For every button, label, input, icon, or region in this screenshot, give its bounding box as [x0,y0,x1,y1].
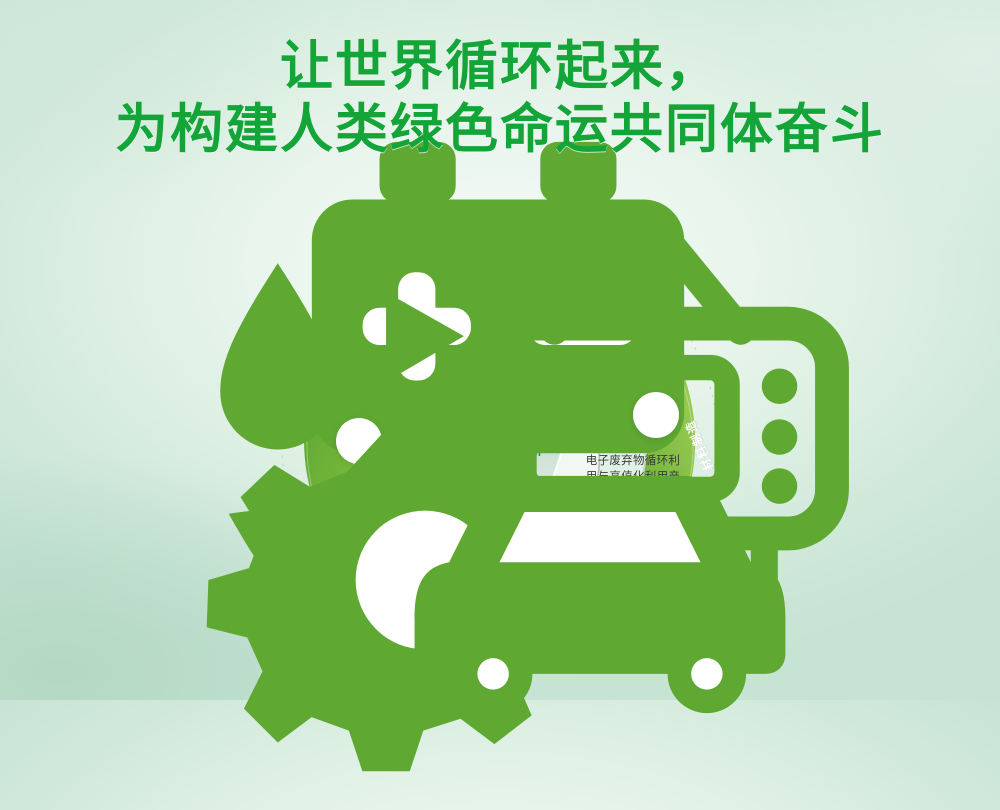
circular-economy-diagram: 再利用 废品回收 材料制造 新能源产品 零部件制造 废旧电池回收与动力电池材料制… [280,215,720,675]
page-title-line-2: 为构建人类绿色命运共同体奋斗 [0,98,1000,162]
car-icon [577,555,623,601]
page-title: 让世界循环起来， 为构建人类绿色命运共同体奋斗 [0,36,1000,162]
page-title-line-1: 让世界循环起来， [0,36,1000,98]
